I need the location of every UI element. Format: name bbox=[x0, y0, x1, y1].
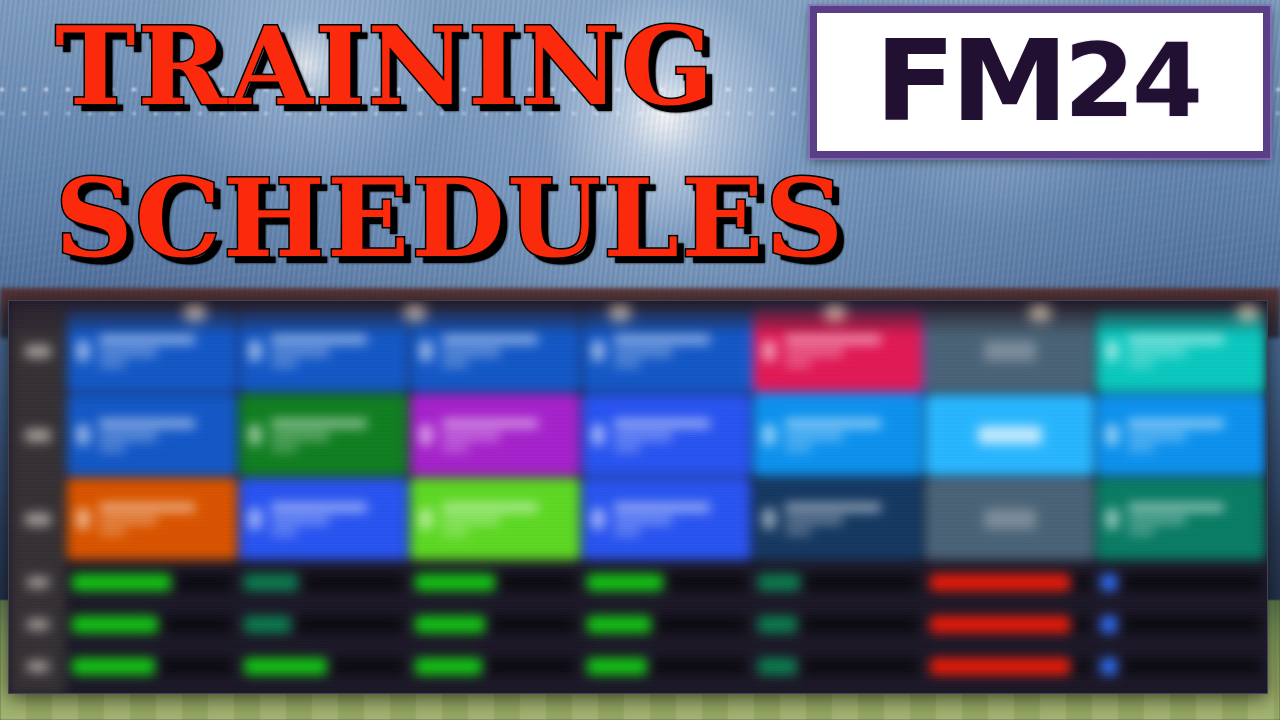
title-line-2: SCHEDULES bbox=[55, 156, 845, 282]
session-card-text bbox=[271, 419, 367, 451]
session-card-d5-r3[interactable] bbox=[753, 478, 923, 560]
rating-bar-track bbox=[491, 616, 574, 633]
rating-bar-track bbox=[161, 658, 232, 675]
session-card-sub-line bbox=[614, 433, 672, 440]
rating-bar-fill bbox=[244, 616, 292, 633]
session-card-d1-r2[interactable] bbox=[67, 394, 237, 476]
rating-bar-cell-day-1-rating-row-3[interactable] bbox=[66, 645, 238, 687]
session-card-meta-line bbox=[1128, 529, 1154, 535]
rating-bar-cell-day-3-rating-row-2[interactable] bbox=[409, 603, 581, 645]
session-card-d2-r2[interactable] bbox=[239, 394, 409, 476]
rating-bar-cell-day-1-rating-row-2[interactable] bbox=[66, 603, 238, 645]
rating-bar-fill bbox=[587, 616, 651, 633]
rating-bar-fill bbox=[758, 574, 799, 591]
session-card-text bbox=[614, 503, 710, 535]
session-card-text bbox=[99, 335, 195, 367]
rating-bar-fill bbox=[930, 658, 1070, 675]
thumbnail-stage: TRAINING SCHEDULES FM 24 bbox=[0, 0, 1280, 720]
session-card-meta-line bbox=[442, 529, 468, 535]
session-card-d7-r2[interactable] bbox=[1096, 394, 1266, 476]
session-card-d7-r3[interactable] bbox=[1096, 478, 1266, 560]
session-card-text bbox=[785, 419, 881, 451]
rating-bar-cell-day-5-rating-row-3[interactable] bbox=[752, 645, 924, 687]
session-card-title-line bbox=[99, 335, 195, 344]
rating-bar-track bbox=[488, 658, 575, 675]
rail-rating-row-3 bbox=[9, 645, 66, 687]
session-card-meta-line bbox=[271, 529, 297, 535]
session-card-text bbox=[1128, 503, 1224, 535]
session-card-meta-line bbox=[99, 361, 125, 367]
session-card-text bbox=[271, 335, 367, 367]
rating-bar-cell-day-4-rating-row-3[interactable] bbox=[581, 645, 753, 687]
session-card-sub-line bbox=[99, 349, 157, 356]
session-card-sub-line bbox=[442, 433, 500, 440]
rating-bar-track bbox=[164, 616, 231, 633]
rail-dot-icon bbox=[25, 345, 51, 358]
panel-top-glow bbox=[184, 305, 206, 321]
session-card-title-line bbox=[442, 335, 538, 344]
rail-dot-icon bbox=[27, 619, 49, 630]
rating-bar-fill bbox=[587, 658, 648, 675]
rating-bar-fill bbox=[758, 658, 796, 675]
session-card-meta-line bbox=[442, 361, 468, 367]
session-card-meta-line bbox=[785, 361, 811, 367]
grid-cell-d5-r2[interactable] bbox=[752, 393, 924, 477]
rating-bar-cell-day-1-rating-row-1[interactable] bbox=[66, 561, 238, 603]
panel-top-glow bbox=[824, 305, 846, 321]
session-card-d6-r2[interactable] bbox=[925, 394, 1095, 476]
rail-dot-icon bbox=[25, 513, 51, 526]
rail-rating-row-1 bbox=[9, 561, 66, 603]
rating-bar-fill bbox=[587, 574, 664, 591]
rating-bar-fill bbox=[1101, 616, 1117, 633]
session-card-title-line bbox=[99, 419, 195, 428]
session-card-meta-line bbox=[785, 445, 811, 451]
session-card-meta-line bbox=[1128, 361, 1154, 367]
session-type-icon bbox=[762, 424, 776, 446]
grid-cell-d4-r2[interactable] bbox=[581, 393, 753, 477]
session-card-title-line bbox=[271, 335, 367, 344]
session-card-text bbox=[442, 503, 538, 535]
grid-cell-d5-r3[interactable] bbox=[752, 477, 924, 561]
rating-bar-cell-day-5-rating-row-2[interactable] bbox=[752, 603, 924, 645]
title-line-1: TRAINING bbox=[55, 4, 716, 130]
rating-bar-cell-day-7-rating-row-2[interactable] bbox=[1095, 603, 1267, 645]
session-card-text bbox=[1128, 335, 1224, 367]
grid-spacer-bottom-day-2 bbox=[238, 687, 410, 694]
rating-bar-track bbox=[1123, 616, 1261, 633]
rating-bar-track bbox=[304, 574, 403, 591]
session-card-d3-r3[interactable] bbox=[410, 478, 580, 560]
session-card-title-line bbox=[442, 503, 538, 512]
session-type-icon bbox=[76, 424, 90, 446]
session-type-icon bbox=[248, 340, 262, 362]
session-type-icon bbox=[591, 508, 605, 530]
session-card-meta-line bbox=[442, 445, 468, 451]
session-card-text bbox=[442, 335, 538, 367]
rating-bar-track bbox=[806, 574, 918, 591]
session-card-text bbox=[614, 419, 710, 451]
session-type-icon bbox=[1105, 508, 1119, 530]
grid-spacer-rail-bottom bbox=[9, 687, 66, 694]
session-card-title-line bbox=[1128, 335, 1224, 344]
rating-bar-cell-day-6-rating-row-2[interactable] bbox=[924, 603, 1096, 645]
session-card-title-line bbox=[785, 419, 881, 428]
session-card-text bbox=[99, 503, 195, 535]
session-type-icon bbox=[762, 340, 776, 362]
rating-bar-cell-day-2-rating-row-2[interactable] bbox=[238, 603, 410, 645]
grid-cell-d1-r2[interactable] bbox=[66, 393, 238, 477]
rating-bar-fill bbox=[415, 658, 482, 675]
grid-spacer-bottom-day-7 bbox=[1095, 687, 1267, 694]
session-card-sub-line bbox=[271, 433, 329, 440]
session-card-meta-line bbox=[1128, 445, 1154, 451]
empty-slot-blob bbox=[984, 341, 1036, 361]
session-card-title-line bbox=[785, 503, 881, 512]
session-card-sub-line bbox=[785, 517, 843, 524]
rating-bar-track bbox=[1076, 658, 1089, 675]
grid-spacer-bottom-day-1 bbox=[66, 687, 238, 694]
rating-bar-track bbox=[333, 658, 404, 675]
rating-bar-cell-day-3-rating-row-3[interactable] bbox=[409, 645, 581, 687]
rating-bar-fill bbox=[1101, 658, 1117, 675]
fm24-logo: FM 24 bbox=[810, 6, 1270, 158]
rating-bar-cell-day-6-rating-row-1[interactable] bbox=[924, 561, 1096, 603]
session-card-d3-r2[interactable] bbox=[410, 394, 580, 476]
session-card-sub-line bbox=[614, 517, 672, 524]
session-type-icon bbox=[419, 340, 433, 362]
rating-bar-track bbox=[1123, 658, 1261, 675]
grid-spacer-bottom-day-5 bbox=[752, 687, 924, 694]
session-type-icon bbox=[591, 424, 605, 446]
rating-bar-track bbox=[803, 616, 918, 633]
grid-cell-d1-r3[interactable] bbox=[66, 477, 238, 561]
session-type-icon bbox=[76, 508, 90, 530]
session-card-text bbox=[442, 419, 538, 451]
grid-cell-d6-r3[interactable] bbox=[924, 477, 1096, 561]
session-card-title-line bbox=[1128, 503, 1224, 512]
session-card-meta-line bbox=[271, 445, 297, 451]
session-card-text bbox=[99, 419, 195, 451]
session-card-d1-r3[interactable] bbox=[67, 478, 237, 560]
session-card-text bbox=[785, 335, 881, 367]
session-card-sub-line bbox=[442, 517, 500, 524]
rating-bar-cell-day-6-rating-row-3[interactable] bbox=[924, 645, 1096, 687]
fm24-logo-year: 24 bbox=[1064, 31, 1200, 133]
panel-top-glow bbox=[404, 305, 426, 321]
grid-cell-d4-r3[interactable] bbox=[581, 477, 753, 561]
session-card-sub-line bbox=[271, 349, 329, 356]
rail-session-row-2 bbox=[9, 393, 66, 477]
session-card-d4-r3[interactable] bbox=[582, 478, 752, 560]
rating-bar-fill bbox=[930, 574, 1070, 591]
session-card-meta-line bbox=[785, 529, 811, 535]
session-card-title-line bbox=[614, 419, 710, 428]
rest-label-blob bbox=[978, 426, 1042, 444]
grid-cell-d6-r2[interactable] bbox=[924, 393, 1096, 477]
rating-bar-fill bbox=[758, 616, 796, 633]
rating-bar-fill bbox=[930, 616, 1070, 633]
rail-dot-icon bbox=[27, 661, 49, 672]
rating-bar-track bbox=[297, 616, 403, 633]
session-type-icon bbox=[419, 424, 433, 446]
rating-bar-fill bbox=[244, 574, 298, 591]
training-schedule-blur-layer bbox=[9, 301, 1267, 693]
session-card-sub-line bbox=[1128, 517, 1186, 524]
rating-bar-cell-day-4-rating-row-1[interactable] bbox=[581, 561, 753, 603]
session-card-title-line bbox=[99, 503, 195, 512]
session-card-title-line bbox=[271, 503, 367, 512]
session-card-d5-r2[interactable] bbox=[753, 394, 923, 476]
session-card-text bbox=[1128, 419, 1224, 451]
session-card-d4-r2[interactable] bbox=[582, 394, 752, 476]
grid-cell-d3-r3[interactable] bbox=[409, 477, 581, 561]
panel-top-glow bbox=[1029, 305, 1051, 321]
session-card-d6-r3[interactable] bbox=[925, 478, 1095, 560]
session-card-text bbox=[785, 503, 881, 535]
session-card-sub-line bbox=[99, 433, 157, 440]
session-card-sub-line bbox=[271, 517, 329, 524]
rating-bar-fill bbox=[72, 574, 171, 591]
panel-top-glow bbox=[1237, 305, 1259, 321]
grid-cell-d2-r2[interactable] bbox=[238, 393, 410, 477]
rating-bar-fill bbox=[72, 616, 158, 633]
session-card-meta-line bbox=[614, 529, 640, 535]
rating-bar-track bbox=[669, 574, 746, 591]
rating-bar-cell-day-7-rating-row-1[interactable] bbox=[1095, 561, 1267, 603]
rating-bar-cell-day-2-rating-row-3[interactable] bbox=[238, 645, 410, 687]
session-type-icon bbox=[762, 508, 776, 530]
session-card-d2-r3[interactable] bbox=[239, 478, 409, 560]
rating-bar-fill bbox=[72, 658, 155, 675]
session-type-icon bbox=[248, 508, 262, 530]
session-type-icon bbox=[1105, 424, 1119, 446]
grid-cell-d2-r3[interactable] bbox=[238, 477, 410, 561]
session-card-title-line bbox=[785, 335, 881, 344]
session-card-title-line bbox=[442, 419, 538, 428]
grid-spacer-bottom-day-4 bbox=[581, 687, 753, 694]
session-card-sub-line bbox=[785, 433, 843, 440]
session-card-title-line bbox=[271, 419, 367, 428]
rating-bar-track bbox=[653, 658, 746, 675]
session-type-icon bbox=[591, 340, 605, 362]
grid-spacer-bottom-day-3 bbox=[409, 687, 581, 694]
session-card-sub-line bbox=[1128, 349, 1186, 356]
rail-session-row-3 bbox=[9, 477, 66, 561]
rating-bar-track bbox=[1076, 574, 1089, 591]
rating-bar-cell-day-3-rating-row-1[interactable] bbox=[409, 561, 581, 603]
rail-dot-icon bbox=[25, 429, 51, 442]
session-card-sub-line bbox=[785, 349, 843, 356]
session-card-meta-line bbox=[271, 361, 297, 367]
session-card-meta-line bbox=[99, 529, 125, 535]
session-type-icon bbox=[419, 508, 433, 530]
session-card-title-line bbox=[614, 335, 710, 344]
grid-spacer-bottom-day-6 bbox=[924, 687, 1096, 694]
session-card-sub-line bbox=[99, 517, 157, 524]
grid-cell-d3-r2[interactable] bbox=[409, 393, 581, 477]
panel-top-glow bbox=[609, 305, 631, 321]
session-card-sub-line bbox=[614, 349, 672, 356]
rating-bar-fill bbox=[1101, 574, 1117, 591]
rating-bar-cell-day-2-rating-row-1[interactable] bbox=[238, 561, 410, 603]
session-type-icon bbox=[1105, 340, 1119, 362]
fm24-logo-prefix: FM bbox=[875, 26, 1064, 138]
session-card-sub-line bbox=[442, 349, 500, 356]
rating-bar-cell-day-5-rating-row-1[interactable] bbox=[752, 561, 924, 603]
session-card-title-line bbox=[1128, 419, 1224, 428]
session-type-icon bbox=[248, 424, 262, 446]
training-schedule-panel bbox=[8, 300, 1268, 694]
rating-bar-track bbox=[501, 574, 575, 591]
rating-bar-fill bbox=[244, 658, 327, 675]
session-card-title-line bbox=[614, 503, 710, 512]
session-card-meta-line bbox=[99, 445, 125, 451]
rating-bar-cell-day-7-rating-row-3[interactable] bbox=[1095, 645, 1267, 687]
session-card-meta-line bbox=[614, 361, 640, 367]
session-card-sub-line bbox=[1128, 433, 1186, 440]
rating-bar-track bbox=[1076, 616, 1089, 633]
rail-dot-icon bbox=[27, 577, 49, 588]
rating-bar-track bbox=[177, 574, 232, 591]
session-card-text bbox=[614, 335, 710, 367]
rating-bar-fill bbox=[415, 574, 495, 591]
rating-bar-cell-day-4-rating-row-2[interactable] bbox=[581, 603, 753, 645]
session-card-text bbox=[271, 503, 367, 535]
session-card-meta-line bbox=[614, 445, 640, 451]
rail-rating-row-2 bbox=[9, 603, 66, 645]
rating-bar-track bbox=[803, 658, 918, 675]
session-type-icon bbox=[76, 340, 90, 362]
grid-cell-d7-r3[interactable] bbox=[1095, 477, 1267, 561]
rating-bar-fill bbox=[415, 616, 485, 633]
rating-bar-track bbox=[1123, 574, 1261, 591]
training-grid[interactable] bbox=[9, 301, 1267, 693]
empty-slot-blob bbox=[984, 509, 1036, 529]
grid-cell-d7-r2[interactable] bbox=[1095, 393, 1267, 477]
rating-bar-track bbox=[657, 616, 747, 633]
